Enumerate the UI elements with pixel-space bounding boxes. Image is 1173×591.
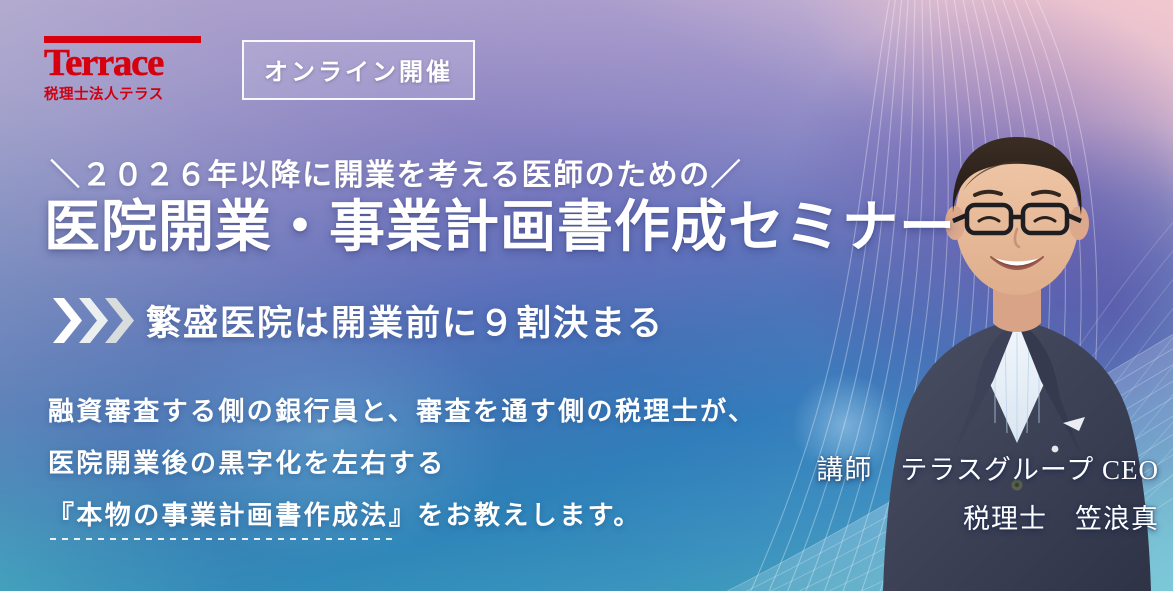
logo-subtitle: 税理士法人テラス [44, 83, 204, 104]
speaker-credit: 講師 テラスグループ CEO 税理士 笠浪真 [816, 457, 1159, 555]
hero-subtitle: 繁盛医院は開業前に９割決まる [146, 295, 664, 346]
hero-body-line: 医院開業後の黒字化を左右する [48, 450, 756, 476]
hero-kicker: ＼２０２６年以降に開業を考える医師のための／ [50, 150, 742, 194]
logo-wordmark: Terrace [44, 45, 207, 82]
banner-header: Terrace 税理士法人テラス オンライン開催 [44, 36, 475, 104]
seminar-banner: Terrace 税理士法人テラス オンライン開催 ＼２０２６年以降に開業を考える… [0, 0, 1173, 591]
hero-body: 融資審査する側の銀行員と、審査を通す側の税理士が、 医院開業後の黒字化を左右する… [48, 398, 756, 554]
dotted-divider [50, 538, 392, 540]
terrace-logo: Terrace 税理士法人テラス [44, 36, 204, 104]
hero-body-line: 融資審査する側の銀行員と、審査を通す側の税理士が、 [48, 398, 756, 424]
hero-body-line: 『本物の事業計画書作成法』をお教えします。 [48, 502, 756, 528]
online-event-badge: オンライン開催 [242, 40, 475, 100]
chevron-right-icon [104, 297, 134, 344]
chevron-group [52, 297, 130, 344]
speaker-name: 税理士 笠浪真 [816, 506, 1159, 533]
speaker-role: 講師 テラスグループ CEO [816, 457, 1159, 484]
hero-subtitle-row: 繁盛医院は開業前に９割決まる [52, 295, 664, 346]
hero-title: 医院開業・事業計画書作成セミナー [44, 198, 956, 257]
